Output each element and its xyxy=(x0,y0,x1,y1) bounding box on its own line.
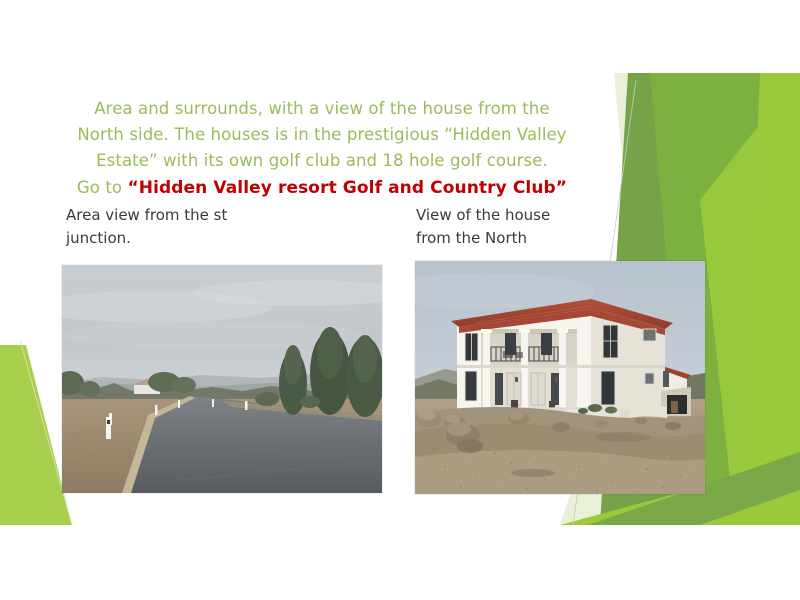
house-north-photo xyxy=(415,261,705,494)
deco-bright-column xyxy=(742,73,800,525)
body-line-3: Estate” with its own golf club and 18 ho… xyxy=(44,148,600,174)
caption-right-line-1: View of the house xyxy=(416,204,646,227)
call-to-action-line: Go to “Hidden Valley resort Golf and Cou… xyxy=(44,175,600,201)
slide-canvas: Area and surrounds, with a view of the h… xyxy=(0,0,800,600)
caption-left-line-2: junction. xyxy=(66,227,296,250)
body-line-2: North side. The houses is in the prestig… xyxy=(44,122,600,148)
cta-prefix: Go to xyxy=(77,178,128,197)
caption-right-line-2: from the North xyxy=(416,227,646,250)
caption-right: View of the house from the North xyxy=(416,204,646,250)
body-line-1: Area and surrounds, with a view of the h… xyxy=(44,96,600,122)
area-view-photo xyxy=(62,265,382,493)
cta-emphasis: “Hidden Valley resort Golf and Country C… xyxy=(127,178,567,198)
caption-left-line-1: Area view from the st xyxy=(66,204,296,227)
deco-bright-wedge xyxy=(700,73,800,525)
slide-body-text: Area and surrounds, with a view of the h… xyxy=(44,96,600,201)
caption-left: Area view from the st junction. xyxy=(66,204,296,250)
